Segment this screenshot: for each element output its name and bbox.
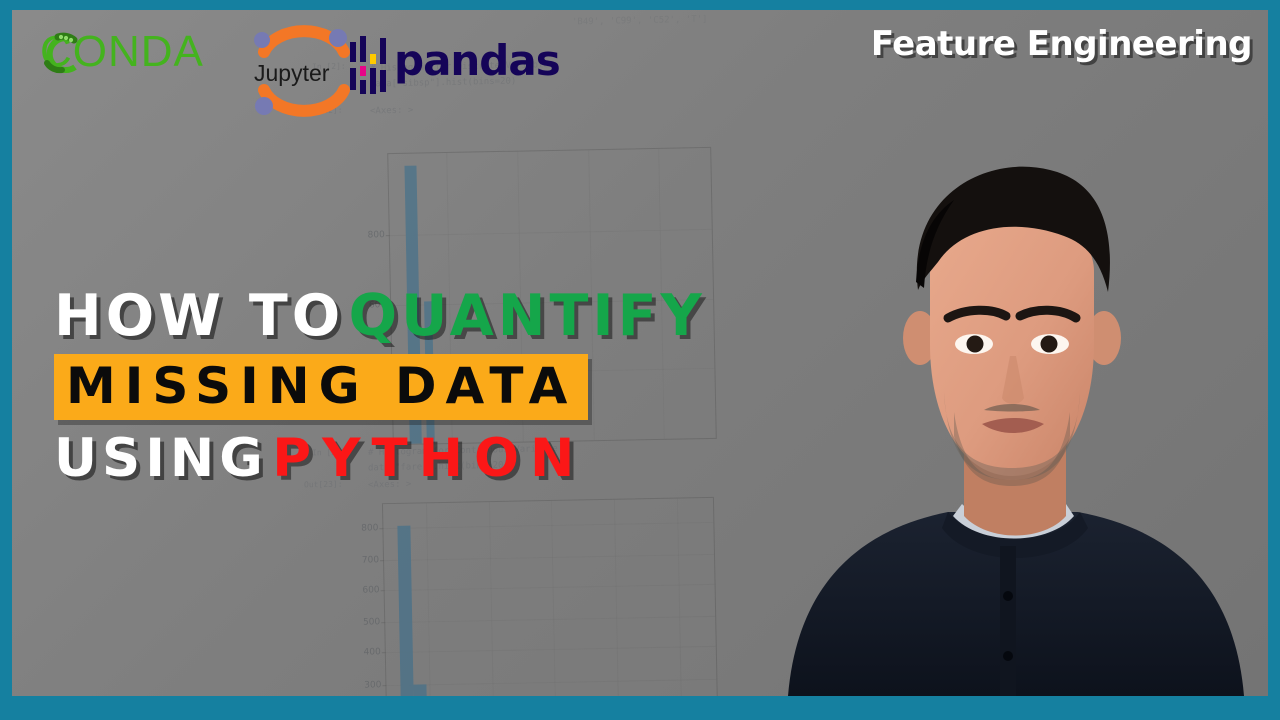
- y-tick-600-b: 600: [362, 585, 379, 595]
- title-line-2-wrap: MISSING DATA: [54, 345, 706, 420]
- thumbnail: 'B49', 'C99', 'C52', 'T'] In [2]: # Hist…: [0, 0, 1280, 720]
- thumbnail-canvas: 'B49', 'C99', 'C52', 'T'] In [2]: # Hist…: [12, 10, 1268, 696]
- title-how-to: HOW TO: [54, 283, 344, 349]
- presenter-portrait: [748, 76, 1268, 696]
- y-tick-400-b: 400: [364, 648, 381, 658]
- title-python: PYTHON: [272, 428, 585, 489]
- y-tick-800: 800: [368, 230, 385, 240]
- code-fragment-top: 'B49', 'C99', 'C52', 'T']: [572, 15, 707, 28]
- code-output-1: <Axes: >: [370, 106, 413, 117]
- title-line-1: HOW TO QUANTIFY: [54, 288, 706, 345]
- bar-0-b: [397, 525, 414, 696]
- bar-1-b: [413, 684, 427, 696]
- title-using: USING: [54, 428, 268, 489]
- conda-logo: CONDA: [40, 30, 204, 74]
- pandas-wordmark: pandas: [394, 40, 560, 82]
- pandas-icon: [348, 36, 394, 96]
- y-tick-500-b: 500: [363, 618, 380, 628]
- feature-engineering-badge: Feature Engineering: [871, 24, 1252, 64]
- title-line-3: USING PYTHON: [54, 432, 706, 485]
- title-quantify: QUANTIFY: [349, 283, 706, 349]
- title-highlight-band: MISSING DATA: [54, 354, 588, 420]
- jupyter-wordmark: Jupyter: [254, 60, 329, 87]
- conda-snake-icon: [38, 32, 82, 76]
- y-tick-800-b: 800: [361, 523, 378, 533]
- y-tick-300-b: 300: [364, 680, 381, 690]
- histogram-continuous-plot: 800 700 600 500 400 300 200: [382, 497, 718, 696]
- y-tick-700-b: 700: [362, 555, 379, 565]
- title-missing-data: MISSING DATA: [66, 357, 576, 415]
- title-block: HOW TO QUANTIFY MISSING DATA USING PYTHO…: [54, 288, 706, 485]
- jupyter-logo: Jupyter: [248, 24, 360, 120]
